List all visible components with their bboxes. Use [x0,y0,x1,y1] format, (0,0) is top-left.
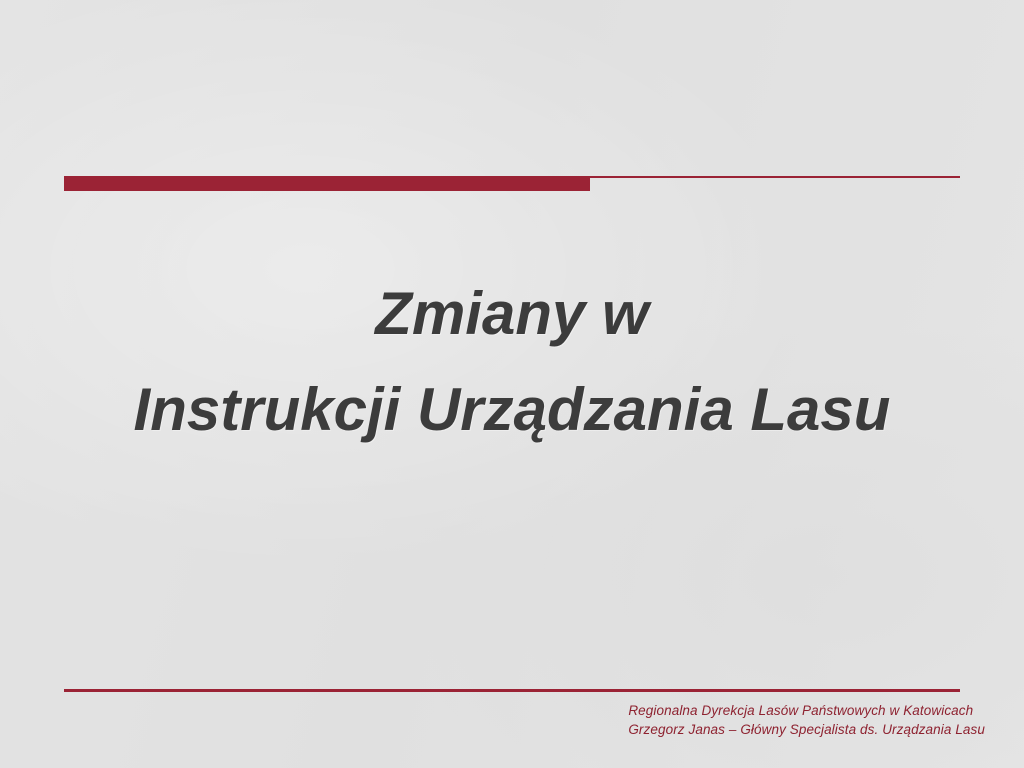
slide-footer-attribution: Regionalna Dyrekcja Lasów Państwowych w … [628,701,985,739]
footer-author: Grzegorz Janas – Główny Specjalista ds. … [628,720,985,739]
slide-title-line-1: Zmiany w [0,266,1024,362]
footer-organization: Regionalna Dyrekcja Lasów Państwowych w … [628,701,985,720]
slide-title: Zmiany w Instrukcji Urządzania Lasu [0,266,1024,458]
bottom-accent-rule [64,689,960,692]
top-accent-rule-thick [64,176,590,191]
slide-title-line-2: Instrukcji Urządzania Lasu [0,362,1024,458]
presentation-slide: 825.8 2.5 1.0 1.0 1.0 1.2 1.4 3.0 1.8 2.… [0,0,1024,768]
